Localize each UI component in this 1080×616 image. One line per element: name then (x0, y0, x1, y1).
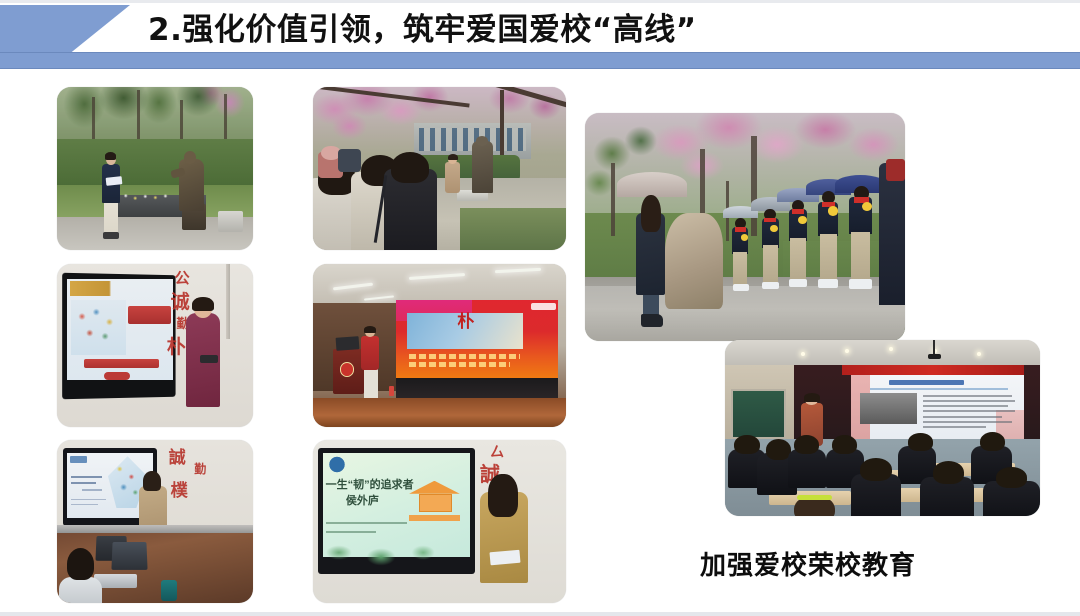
page-title: 2.强化价值引领，筑牢爱国爱校“高线” (148, 8, 697, 52)
statue-group-photo (313, 87, 566, 250)
rain-memorial-photo (585, 113, 905, 341)
slide-header: 2.强化价值引领，筑牢爱国爱校“高线” (0, 3, 1080, 69)
green-slide-photo: 一生“韧”的追求者 侯外庐 厶 誠 凵 (313, 440, 566, 603)
auditorium-photo: 朴 (313, 264, 566, 427)
photo-group-caption: 加强爱校荣校教育 (700, 545, 916, 582)
classroom-photo (725, 340, 1040, 516)
header-accent-bar (0, 52, 1080, 69)
lecture-screen-photo: 公 诚 勤 朴 (57, 264, 253, 427)
screen-character: 朴 (457, 314, 487, 347)
slide-canvas: 2.强化价值引领，筑牢爱国爱校“高线” (0, 0, 1080, 616)
meeting-room-photo: 誠 勤 樸 (57, 440, 253, 603)
viewer-bottom-edge (0, 612, 1080, 616)
statue-reading-photo (57, 87, 253, 250)
